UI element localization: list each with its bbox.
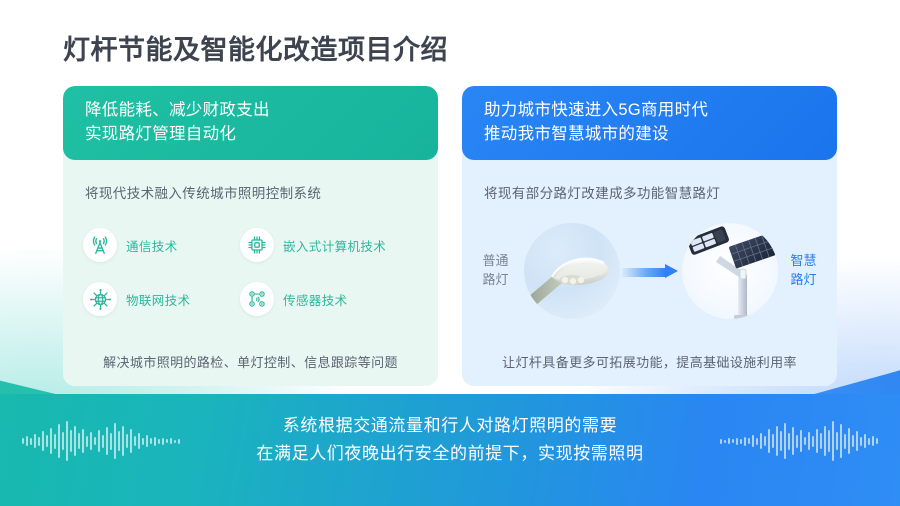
antenna-tower-icon <box>83 228 117 262</box>
card-energy-saving: 降低能耗、减少财政支出 实现路灯管理自动化 将现代技术融入传统城市照明控制系统 … <box>63 86 438 386</box>
tech-label-sensor: 传感器技术 <box>283 290 348 309</box>
card-header-right-text: 助力城市快速进入5G商用时代 推动我市智慧城市的建设 <box>484 99 708 147</box>
card-right-subtitle: 将现有部分路灯改建成多功能智慧路灯 <box>484 182 837 202</box>
banner-text: 系统根据交通流量和行人对路灯照明的需要 在满足人们夜晚出行安全的前提下，实现按需… <box>0 412 900 467</box>
card-left-footer-text: 解决城市照明的路检、单灯控制、信息跟踪等问题 <box>103 352 398 371</box>
microchip-icon <box>240 228 274 262</box>
card-right-footer: 让灯杆具备更多可拓展功能，提高基础设施利用率 <box>462 336 837 386</box>
slide-canvas: 灯杆节能及智能化改造项目介绍 降低能耗、减少财政支出 实现路灯管理自动化 将现代… <box>0 0 900 506</box>
streetlamp-comparison: 普通 路灯 <box>462 212 837 330</box>
tech-label-communication: 通信技术 <box>126 236 178 255</box>
tech-item-embedded-computing[interactable]: 嵌入式计算机技术 <box>240 228 415 262</box>
card-smart-city: 助力城市快速进入5G商用时代 推动我市智慧城市的建设 将现有部分路灯改建成多功能… <box>462 86 837 386</box>
ordinary-streetlamp-photo <box>524 223 620 319</box>
tech-label-embedded-computing: 嵌入式计算机技术 <box>283 236 386 255</box>
card-header-left: 降低能耗、减少财政支出 实现路灯管理自动化 <box>63 86 438 160</box>
tech-item-communication[interactable]: 通信技术 <box>83 228 240 262</box>
card-right-footer-text: 让灯杆具备更多可拓展功能，提高基础设施利用率 <box>502 352 797 371</box>
card-header-right: 助力城市快速进入5G商用时代 推动我市智慧城市的建设 <box>462 86 837 160</box>
lamp-label-ordinary: 普通 路灯 <box>474 252 518 290</box>
page-title: 灯杆节能及智能化改造项目介绍 <box>63 28 448 67</box>
sensor-nodes-icon <box>240 282 274 316</box>
right-arrow-icon <box>622 265 680 278</box>
smart-streetlamp-photo <box>682 223 778 319</box>
card-header-left-text: 降低能耗、减少财政支出 实现路灯管理自动化 <box>85 99 270 147</box>
iot-globe-icon <box>83 282 117 316</box>
bottom-banner: 系统根据交通流量和行人对路灯照明的需要 在满足人们夜晚出行安全的前提下，实现按需… <box>0 394 900 506</box>
card-left-subtitle: 将现代技术融入传统城市照明控制系统 <box>85 182 438 202</box>
tech-item-sensor[interactable]: 传感器技术 <box>240 282 415 316</box>
card-left-footer: 解决城市照明的路检、单灯控制、信息跟踪等问题 <box>63 336 438 386</box>
lamp-label-smart: 智慧 路灯 <box>782 252 826 290</box>
technology-list: 通信技术 嵌入式计算机技术 <box>83 218 419 326</box>
tech-label-iot: 物联网技术 <box>126 290 191 309</box>
tech-item-iot[interactable]: 物联网技术 <box>83 282 240 316</box>
